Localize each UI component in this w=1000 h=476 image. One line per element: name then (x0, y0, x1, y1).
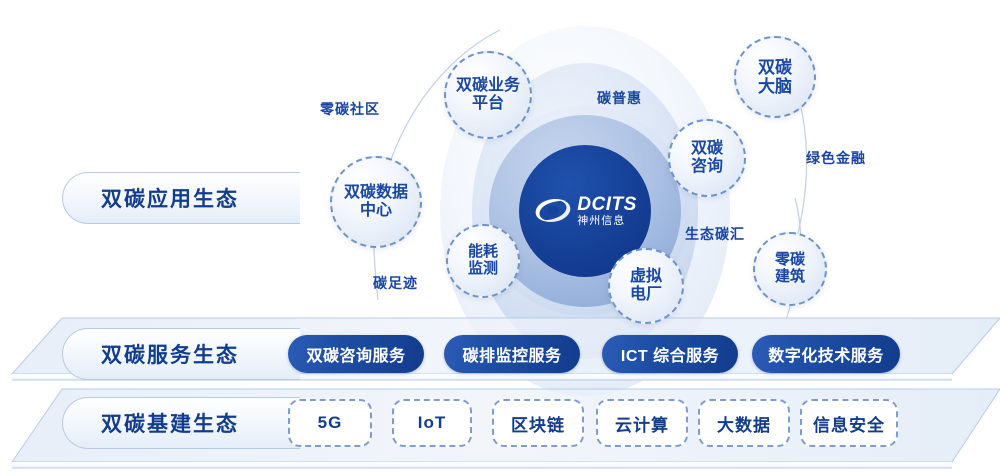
orbit-label-zero-carbon-community: 零碳社区 (320, 99, 380, 119)
bubble-line: 双碳业务 (456, 77, 520, 95)
bubble-line: 监测 (468, 261, 498, 278)
infra-chip-5g[interactable]: 5G (288, 399, 372, 447)
service-pill-consulting-service[interactable]: 双碳咨询服务 (288, 335, 424, 373)
orbit-bubble-zero-carbon-building[interactable]: 零碳 建筑 (753, 232, 827, 306)
bubble-line: 双碳 (758, 58, 792, 77)
bubble-line: 建筑 (775, 269, 805, 286)
bubble-line: 零碳 (775, 252, 805, 269)
orbit-bubble-consulting[interactable]: 双碳 咨询 (668, 119, 746, 197)
bubble-line: 能耗 (468, 244, 498, 261)
bubble-line: 咨询 (691, 158, 723, 176)
orbit-label-green-finance: 绿色金融 (806, 148, 866, 168)
infra-chip-info-security[interactable]: 信息安全 (800, 399, 898, 447)
orbit-bubble-virtual-plant[interactable]: 虚拟 电厂 (608, 248, 684, 324)
orbit-bubble-energy-monitor[interactable]: 能耗 监测 (446, 224, 520, 298)
tier-label-application[interactable]: 双碳应用生态 (62, 172, 300, 224)
infra-chip-cloud[interactable]: 云计算 (596, 399, 688, 447)
infra-chip-iot[interactable]: IoT (392, 399, 472, 447)
bubble-line: 双碳数据 (344, 184, 408, 202)
service-pill-digital-technology[interactable]: 数字化技术服务 (752, 335, 900, 373)
bubble-line: 大脑 (758, 77, 792, 96)
orbit-label-carbon-inclusion: 碳普惠 (597, 88, 642, 108)
logo-wordmark: DCITS (577, 195, 637, 214)
orbit-label-carbon-footprint: 碳足迹 (373, 273, 418, 293)
bubble-line: 中心 (360, 202, 392, 220)
infra-chip-blockchain[interactable]: 区块链 (492, 399, 584, 447)
orbit-bubble-data-center[interactable]: 双碳数据 中心 (330, 156, 422, 248)
bubble-line: 双碳 (691, 140, 723, 158)
orbit-bubble-brain[interactable]: 双碳 大脑 (734, 36, 816, 118)
ecosystem-diagram: DCITS 神州信息 双碳业务 平台 双碳数据 中心 能耗 监测 双碳 咨询 双… (0, 0, 1000, 476)
swirl-logo-icon (533, 195, 573, 227)
service-pill-ict-integrated[interactable]: ICT 综合服务 (602, 335, 738, 373)
bubble-line: 电厂 (630, 286, 662, 304)
bubble-line: 平台 (472, 95, 504, 113)
logo-subtext: 神州信息 (577, 216, 625, 227)
tier-label-service[interactable]: 双碳服务生态 (62, 328, 300, 380)
bubble-line: 虚拟 (630, 268, 662, 286)
infra-chip-big-data[interactable]: 大数据 (698, 399, 790, 447)
orbit-label-ecological-carbon-sink: 生态碳汇 (685, 224, 745, 244)
tier-label-infrastructure[interactable]: 双碳基建生态 (62, 397, 300, 449)
brand-logo: DCITS 神州信息 (533, 195, 637, 227)
orbit-bubble-business-platform[interactable]: 双碳业务 平台 (444, 51, 532, 139)
service-pill-emission-monitoring[interactable]: 碳排监控服务 (444, 335, 580, 373)
